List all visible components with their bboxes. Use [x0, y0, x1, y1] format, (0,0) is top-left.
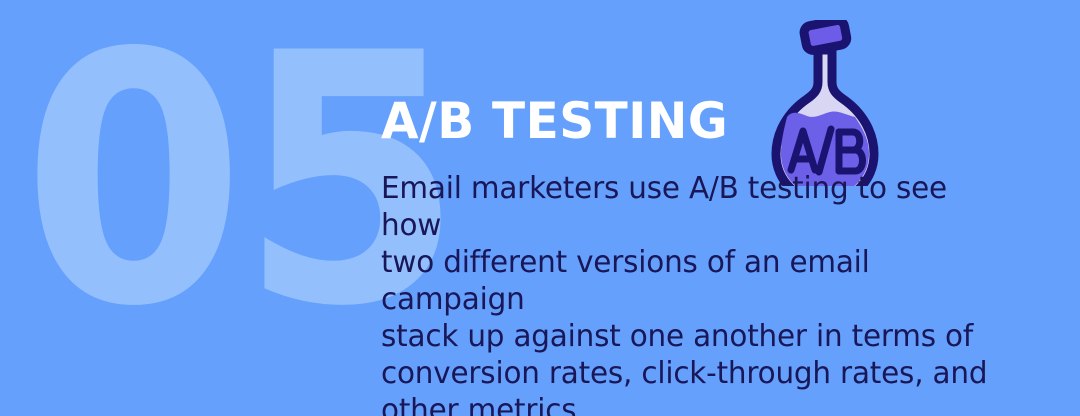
flask-cap	[803, 20, 848, 52]
header-row: A/B TESTING	[381, 78, 889, 164]
body-paragraph: Email marketers use A/B testing to see h…	[381, 170, 999, 416]
page-title: A/B TESTING	[381, 96, 728, 146]
ab-test-flask-icon	[761, 20, 889, 186]
step-number-watermark: 05	[22, 0, 329, 390]
ab-testing-slide: 05 A/B TESTING	[0, 0, 1080, 416]
